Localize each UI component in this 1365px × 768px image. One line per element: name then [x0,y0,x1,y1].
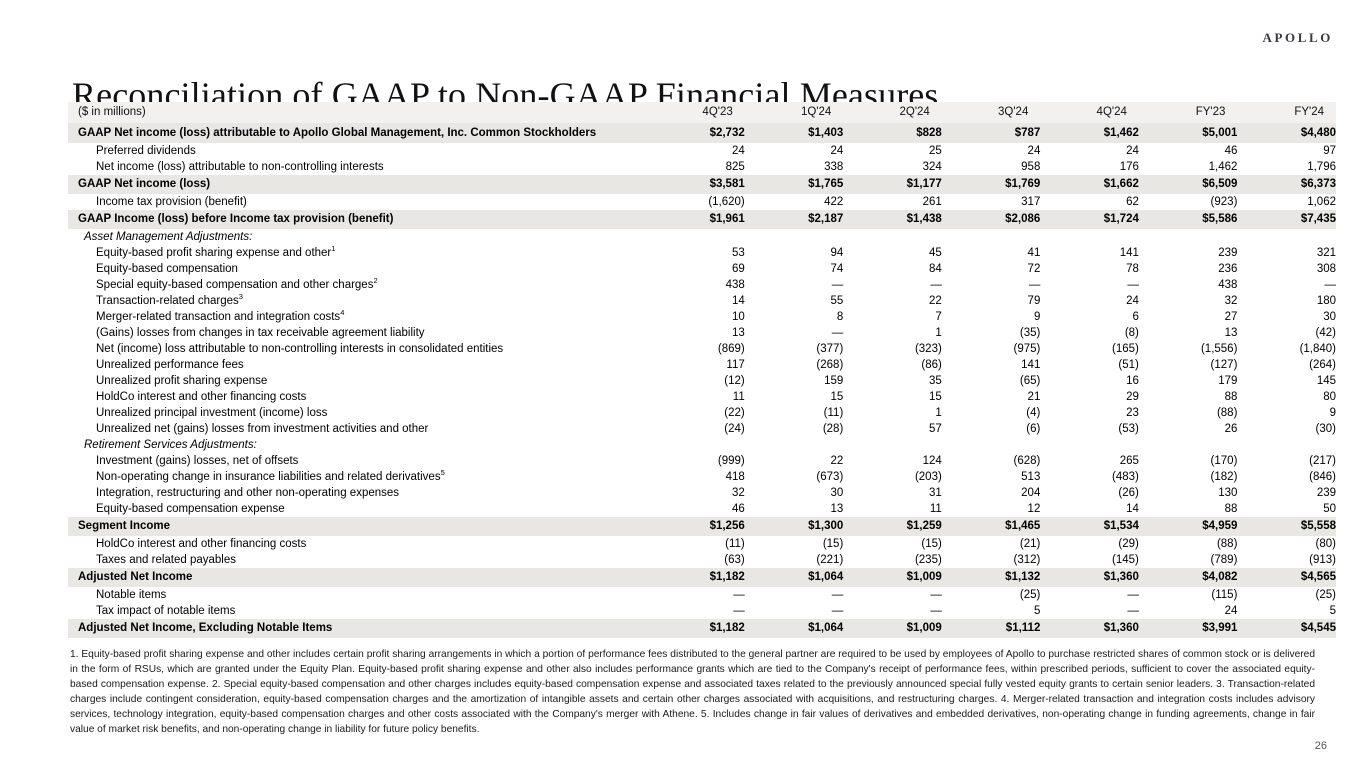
row-value: 88 [1139,389,1238,405]
row-value: 24 [1040,293,1139,309]
row-value: 24 [1040,143,1139,159]
row-value: $3,991 [1139,619,1238,638]
column-header-6: FY'24 [1237,102,1336,123]
row-value: 265 [1040,453,1139,469]
row-value: 31 [843,485,942,501]
row-value: 1 [843,325,942,341]
row-value: 46 [646,501,745,517]
table-row: Equity-based profit sharing expense and … [68,245,1336,261]
row-value: 5 [1237,603,1336,619]
unit-label: ($ in millions) [68,102,646,123]
row-value: 5 [942,603,1041,619]
row-value: 45 [843,245,942,261]
column-header-3: 3Q'24 [942,102,1041,123]
reconciliation-table-container: ($ in millions) 4Q'23 1Q'24 2Q'24 3Q'24 … [68,102,1336,638]
table-row: Equity-based compensation697484727823630… [68,261,1336,277]
row-value: $787 [942,123,1041,143]
column-header-1: 1Q'24 [745,102,844,123]
slide: APOLLO Reconciliation of GAAP to Non-GAA… [0,0,1365,768]
row-label: Investment (gains) losses, net of offset… [68,453,646,469]
row-value: $4,480 [1237,123,1336,143]
row-value: $6,509 [1139,175,1238,194]
row-value: 24 [942,143,1041,159]
row-value: $1,360 [1040,568,1139,587]
table-row: Income tax provision (benefit)(1,620)422… [68,194,1336,210]
row-value: (628) [942,453,1041,469]
row-value: $1,009 [843,619,942,638]
row-value: — [1237,277,1336,293]
row-value: 145 [1237,373,1336,389]
row-value: $1,465 [942,517,1041,536]
row-label: Equity-based compensation [68,261,646,277]
table-row: GAAP Net income (loss) attributable to A… [68,123,1336,143]
row-value: $4,082 [1139,568,1238,587]
table-row: Retirement Services Adjustments: [68,437,1336,453]
footnotes: 1. Equity-based profit sharing expense a… [70,648,1315,738]
row-value: 24 [646,143,745,159]
row-value: $1,769 [942,175,1041,194]
table-row: Equity-based compensation expense4613111… [68,501,1336,517]
table-row: Preferred dividends24242524244697 [68,143,1336,159]
row-value: (88) [1139,405,1238,421]
row-label: Equity-based compensation expense [68,501,646,517]
row-value: $2,086 [942,210,1041,229]
row-value: 338 [745,159,844,175]
row-value: 180 [1237,293,1336,309]
row-label: Unrealized performance fees [68,357,646,373]
row-value [1040,229,1139,245]
row-value: (145) [1040,552,1139,568]
row-label: Adjusted Net Income [68,568,646,587]
row-value: (11) [745,405,844,421]
row-value [1040,437,1139,453]
row-value: (999) [646,453,745,469]
row-value: 23 [1040,405,1139,421]
row-value: (165) [1040,341,1139,357]
table-row: Net income (loss) attributable to non-co… [68,159,1336,175]
table-header: ($ in millions) 4Q'23 1Q'24 2Q'24 3Q'24 … [68,102,1336,123]
row-value: 11 [646,389,745,405]
row-value: 26 [1139,421,1238,437]
row-value: 130 [1139,485,1238,501]
row-label: Non-operating change in insurance liabil… [68,469,646,485]
row-value: 422 [745,194,844,210]
row-value: 239 [1139,245,1238,261]
table-row: GAAP Net income (loss)$3,581$1,765$1,177… [68,175,1336,194]
row-value: 80 [1237,389,1336,405]
row-value [646,437,745,453]
row-value: 88 [1139,501,1238,517]
row-value: $1,462 [1040,123,1139,143]
row-value: (35) [942,325,1041,341]
row-value: 6 [1040,309,1139,325]
apollo-logo: APOLLO [1263,30,1334,46]
row-value: 16 [1040,373,1139,389]
row-value: 22 [745,453,844,469]
row-value: 141 [1040,245,1139,261]
row-value: 84 [843,261,942,277]
table-row: HoldCo interest and other financing cost… [68,536,1336,552]
row-value: $2,187 [745,210,844,229]
table-row: Unrealized net (gains) losses from inves… [68,421,1336,437]
table-row: Unrealized principal investment (income)… [68,405,1336,421]
table-body: GAAP Net income (loss) attributable to A… [68,123,1336,638]
row-value: (12) [646,373,745,389]
row-value: $1,765 [745,175,844,194]
row-label: Net (income) loss attributable to non-co… [68,341,646,357]
row-value: 176 [1040,159,1139,175]
table-row: Adjusted Net Income, Excluding Notable I… [68,619,1336,638]
row-value: (846) [1237,469,1336,485]
row-value [942,437,1041,453]
page-number: 26 [1315,740,1327,752]
row-value: 21 [942,389,1041,405]
row-value: 72 [942,261,1041,277]
row-value: (63) [646,552,745,568]
row-value: (24) [646,421,745,437]
row-label: Unrealized profit sharing expense [68,373,646,389]
row-label: Equity-based profit sharing expense and … [68,245,646,261]
row-value: $1,256 [646,517,745,536]
footnote-marker: 1 [331,245,335,253]
table-row: Merger-related transaction and integrati… [68,309,1336,325]
row-value: $1,534 [1040,517,1139,536]
row-value: 7 [843,309,942,325]
row-value: 418 [646,469,745,485]
row-value: (203) [843,469,942,485]
table-row: HoldCo interest and other financing cost… [68,389,1336,405]
row-label: Net income (loss) attributable to non-co… [68,159,646,175]
row-value: (377) [745,341,844,357]
column-header-2: 2Q'24 [843,102,942,123]
row-value: 1,462 [1139,159,1238,175]
row-value: (869) [646,341,745,357]
row-value: $7,435 [1237,210,1336,229]
table-row: Asset Management Adjustments: [68,229,1336,245]
row-value: (88) [1139,536,1238,552]
row-value: $2,732 [646,123,745,143]
row-value: 317 [942,194,1041,210]
row-value: 46 [1139,143,1238,159]
row-value: $1,961 [646,210,745,229]
row-value: 12 [942,501,1041,517]
row-value: — [843,587,942,603]
row-value: 14 [1040,501,1139,517]
row-value: 324 [843,159,942,175]
reconciliation-table: ($ in millions) 4Q'23 1Q'24 2Q'24 3Q'24 … [68,102,1336,638]
row-value: 32 [1139,293,1238,309]
row-value: (21) [942,536,1041,552]
row-value: (29) [1040,536,1139,552]
row-value: — [745,325,844,341]
row-value: 97 [1237,143,1336,159]
row-value: — [1040,587,1139,603]
row-value: 8 [745,309,844,325]
row-value: $4,545 [1237,619,1336,638]
row-value: (127) [1139,357,1238,373]
row-label: Special equity-based compensation and ot… [68,277,646,293]
row-value: 117 [646,357,745,373]
row-value: 30 [1237,309,1336,325]
row-value: $5,001 [1139,123,1238,143]
row-value: (6) [942,421,1041,437]
row-value: 32 [646,485,745,501]
row-value: 55 [745,293,844,309]
row-value: $1,064 [745,619,844,638]
row-value: 69 [646,261,745,277]
row-label: Segment Income [68,517,646,536]
row-label: GAAP Net income (loss) [68,175,646,194]
row-label: Notable items [68,587,646,603]
row-label: HoldCo interest and other financing cost… [68,389,646,405]
row-value: — [745,587,844,603]
row-value: $1,112 [942,619,1041,638]
row-value: 261 [843,194,942,210]
row-value: (673) [745,469,844,485]
row-value: (1,556) [1139,341,1238,357]
row-value: 1 [843,405,942,421]
row-value: 1,062 [1237,194,1336,210]
table-row: Unrealized profit sharing expense(12)159… [68,373,1336,389]
row-value: 239 [1237,485,1336,501]
row-value: 15 [843,389,942,405]
row-value: — [646,603,745,619]
row-value: $5,558 [1237,517,1336,536]
column-header-5: FY'23 [1139,102,1238,123]
row-value: 825 [646,159,745,175]
row-value: $1,662 [1040,175,1139,194]
row-value: (312) [942,552,1041,568]
row-label: GAAP Net income (loss) attributable to A… [68,123,646,143]
row-value: 124 [843,453,942,469]
row-label: Integration, restructuring and other non… [68,485,646,501]
row-value [843,229,942,245]
row-value: 141 [942,357,1041,373]
row-label: (Gains) losses from changes in tax recei… [68,325,646,341]
row-label: GAAP Income (loss) before Income tax pro… [68,210,646,229]
footnote-marker: 2 [373,277,377,285]
row-value: (789) [1139,552,1238,568]
row-label: Tax impact of notable items [68,603,646,619]
row-value: 74 [745,261,844,277]
row-label: Retirement Services Adjustments: [68,437,646,453]
row-value: 321 [1237,245,1336,261]
table-row: Notable items———(25)—(115)(25) [68,587,1336,603]
row-value: $1,360 [1040,619,1139,638]
row-value: (42) [1237,325,1336,341]
table-row: Tax impact of notable items———5—245 [68,603,1336,619]
row-value: (8) [1040,325,1139,341]
row-value: $1,259 [843,517,942,536]
table-row: Segment Income$1,256$1,300$1,259$1,465$1… [68,517,1336,536]
row-value: (22) [646,405,745,421]
row-value: (28) [745,421,844,437]
row-value: (170) [1139,453,1238,469]
row-value: (53) [1040,421,1139,437]
table-row: (Gains) losses from changes in tax recei… [68,325,1336,341]
row-value: 9 [1237,405,1336,421]
row-value: (217) [1237,453,1336,469]
table-row: Taxes and related payables(63)(221)(235)… [68,552,1336,568]
row-value: 13 [1139,325,1238,341]
row-label: Income tax provision (benefit) [68,194,646,210]
row-value: 958 [942,159,1041,175]
row-value: (86) [843,357,942,373]
row-value: 13 [646,325,745,341]
row-label: Asset Management Adjustments: [68,229,646,245]
row-value: 50 [1237,501,1336,517]
row-value: 79 [942,293,1041,309]
row-value: $1,182 [646,619,745,638]
row-value: (65) [942,373,1041,389]
row-value: (923) [1139,194,1238,210]
row-value: 94 [745,245,844,261]
row-value: 11 [843,501,942,517]
row-value: 13 [745,501,844,517]
row-value: 9 [942,309,1041,325]
row-value: (264) [1237,357,1336,373]
row-value [1139,229,1238,245]
row-value: $1,009 [843,568,942,587]
table-row: GAAP Income (loss) before Income tax pro… [68,210,1336,229]
row-value: $1,182 [646,568,745,587]
row-value: 24 [745,143,844,159]
row-value: — [646,587,745,603]
row-value: (30) [1237,421,1336,437]
row-value: — [1040,277,1139,293]
row-value: $6,373 [1237,175,1336,194]
footnote-marker: 4 [340,309,344,317]
row-value: (975) [942,341,1041,357]
row-value: (15) [843,536,942,552]
table-row: Transaction-related charges3145522792432… [68,293,1336,309]
row-value: 24 [1139,603,1238,619]
row-value: (221) [745,552,844,568]
row-value: 179 [1139,373,1238,389]
row-value: 204 [942,485,1041,501]
row-value: 22 [843,293,942,309]
row-value: (80) [1237,536,1336,552]
row-value: — [1040,603,1139,619]
row-value: $1,438 [843,210,942,229]
row-value: (51) [1040,357,1139,373]
row-value: — [745,277,844,293]
row-value [745,437,844,453]
row-value: (1,620) [646,194,745,210]
row-value: — [942,277,1041,293]
row-value: 1,796 [1237,159,1336,175]
row-value: $1,300 [745,517,844,536]
row-value: (25) [1237,587,1336,603]
row-value: $1,177 [843,175,942,194]
row-value: (115) [1139,587,1238,603]
row-value: (268) [745,357,844,373]
row-label: Unrealized net (gains) losses from inves… [68,421,646,437]
row-value: $828 [843,123,942,143]
row-value: 41 [942,245,1041,261]
row-value: (26) [1040,485,1139,501]
row-value: 78 [1040,261,1139,277]
row-value: (483) [1040,469,1139,485]
row-value: — [843,277,942,293]
row-value: $1,724 [1040,210,1139,229]
table-row: Non-operating change in insurance liabil… [68,469,1336,485]
row-label: HoldCo interest and other financing cost… [68,536,646,552]
table-row: Adjusted Net Income$1,182$1,064$1,009$1,… [68,568,1336,587]
row-value: $1,064 [745,568,844,587]
row-value: 15 [745,389,844,405]
row-value: $4,959 [1139,517,1238,536]
row-value: 25 [843,143,942,159]
table-row: Integration, restructuring and other non… [68,485,1336,501]
row-value: (4) [942,405,1041,421]
footnote-marker: 3 [239,293,243,301]
row-value: (25) [942,587,1041,603]
table-row: Net (income) loss attributable to non-co… [68,341,1336,357]
footnote-marker: 5 [441,469,445,477]
row-value: (11) [646,536,745,552]
row-value: — [843,603,942,619]
row-label: Preferred dividends [68,143,646,159]
row-value: $4,565 [1237,568,1336,587]
row-value: 438 [1139,277,1238,293]
row-value: $3,581 [646,175,745,194]
row-value [646,229,745,245]
row-value: (913) [1237,552,1336,568]
table-row: Unrealized performance fees117(268)(86)1… [68,357,1336,373]
row-value: — [745,603,844,619]
row-value: 236 [1139,261,1238,277]
table-header-row: ($ in millions) 4Q'23 1Q'24 2Q'24 3Q'24 … [68,102,1336,123]
row-value: 29 [1040,389,1139,405]
row-value [1139,437,1238,453]
row-value: 57 [843,421,942,437]
row-value: (182) [1139,469,1238,485]
row-label: Transaction-related charges3 [68,293,646,309]
row-label: Merger-related transaction and integrati… [68,309,646,325]
row-value: (15) [745,536,844,552]
row-value: 159 [745,373,844,389]
column-header-0: 4Q'23 [646,102,745,123]
row-value: (1,840) [1237,341,1336,357]
row-value: 438 [646,277,745,293]
row-value [942,229,1041,245]
row-value [1237,229,1336,245]
row-value: 53 [646,245,745,261]
row-label: Adjusted Net Income, Excluding Notable I… [68,619,646,638]
row-label: Taxes and related payables [68,552,646,568]
row-value: 27 [1139,309,1238,325]
row-value: (235) [843,552,942,568]
row-value: (323) [843,341,942,357]
row-value: 14 [646,293,745,309]
row-value: 35 [843,373,942,389]
table-row: Investment (gains) losses, net of offset… [68,453,1336,469]
column-header-4: 4Q'24 [1040,102,1139,123]
row-value [1237,437,1336,453]
row-value: $1,132 [942,568,1041,587]
row-value: $1,403 [745,123,844,143]
row-value [745,229,844,245]
row-value: 30 [745,485,844,501]
table-row: Special equity-based compensation and ot… [68,277,1336,293]
row-label: Unrealized principal investment (income)… [68,405,646,421]
row-value: $5,586 [1139,210,1238,229]
row-value: 10 [646,309,745,325]
row-value: 513 [942,469,1041,485]
row-value: 62 [1040,194,1139,210]
row-value [843,437,942,453]
